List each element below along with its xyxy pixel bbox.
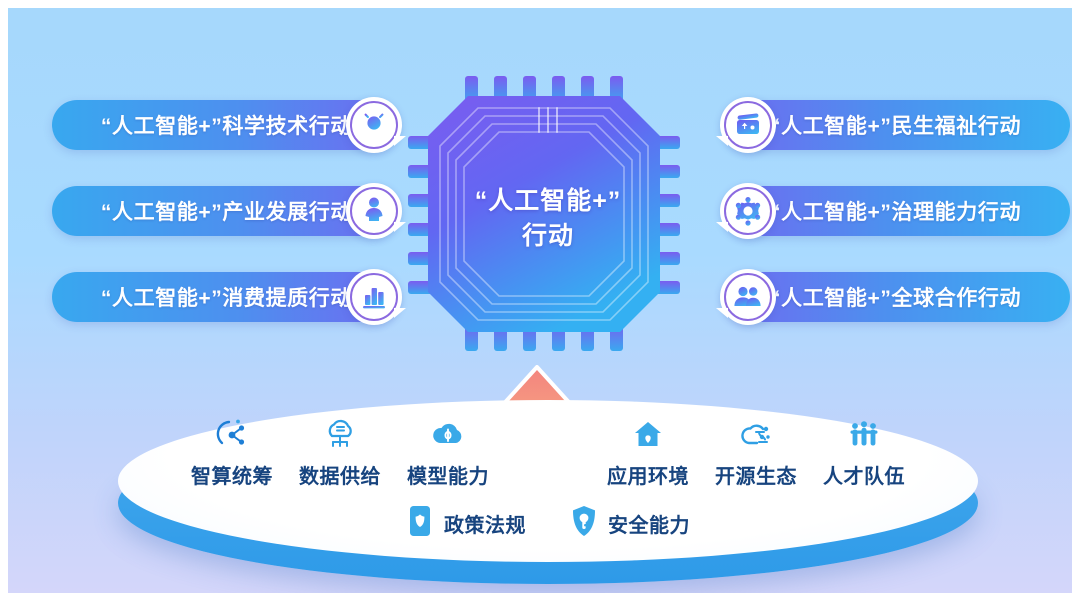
policy-shield-icon	[406, 504, 434, 543]
foundation-item-label: 数据供给	[299, 460, 381, 489]
foundation-item-data[interactable]: 数据供给	[286, 414, 394, 489]
foundation-item-model[interactable]: 模型能力	[394, 414, 502, 489]
action-pill-label: “人工智能+”科学技术行动	[101, 110, 352, 140]
industry-icon	[346, 183, 402, 239]
action-pill-label: “人工智能+”全球合作行动	[770, 282, 1021, 312]
chip-title: “人工智能+” 行动	[408, 184, 688, 253]
open-source-cloud-icon	[737, 414, 775, 454]
badge-tail	[716, 136, 728, 146]
foundation-item-label: 模型能力	[407, 460, 489, 489]
badge-tail	[394, 222, 406, 232]
action-pill-science[interactable]: “人工智能+”科学技术行动	[52, 100, 396, 150]
foundation-item-policy[interactable]: 政策法规	[406, 504, 526, 543]
foundation-item-label: 人才队伍	[823, 460, 905, 489]
action-pill-governance[interactable]: “人工智能+”治理能力行动	[726, 186, 1070, 236]
foundation-item-compute[interactable]: 智算统筹	[178, 414, 286, 489]
foundation-item-label: 应用环境	[607, 460, 689, 489]
foundation-item-label: 智算统筹	[191, 460, 273, 489]
foundation-disc: 智算统筹	[118, 400, 978, 584]
action-pill-global[interactable]: “人工智能+”全球合作行动	[726, 272, 1070, 322]
badge-tail	[716, 308, 728, 318]
infographic-canvas: “人工智能+” 行动 “人工智能+”科学技术行动	[8, 8, 1072, 593]
foundation-item-talent[interactable]: 人才队伍	[810, 414, 918, 489]
home-application-icon	[629, 414, 667, 454]
wallet-icon	[720, 97, 776, 153]
badge-tail	[394, 136, 406, 146]
data-cloud-icon	[321, 414, 359, 454]
model-brain-cloud-icon	[429, 414, 467, 454]
compute-network-icon	[213, 414, 251, 454]
foundation-item-label: 开源生态	[715, 460, 797, 489]
talent-people-icon	[845, 414, 883, 454]
governance-gear-icon	[720, 183, 776, 239]
foundation-row-secondary: 政策法规 安全能力	[118, 504, 978, 543]
lightbulb-icon	[346, 97, 402, 153]
foundation-item-security[interactable]: 安全能力	[570, 504, 690, 543]
action-pill-label: “人工智能+”消费提质行动	[101, 282, 352, 312]
badge-tail	[394, 308, 406, 318]
action-pill-consumption[interactable]: “人工智能+”消费提质行动	[52, 272, 396, 322]
foundation-row-primary: 智算统筹	[118, 414, 978, 489]
action-pill-label: “人工智能+”民生福祉行动	[770, 110, 1021, 140]
foundation-item-label: 政策法规	[444, 509, 526, 538]
foundation-item-opensource[interactable]: 开源生态	[702, 414, 810, 489]
action-pill-industry[interactable]: “人工智能+”产业发展行动	[52, 186, 396, 236]
security-shield-key-icon	[570, 504, 598, 543]
action-pill-livelihood[interactable]: “人工智能+”民生福祉行动	[726, 100, 1070, 150]
foundation-item-label: 安全能力	[608, 509, 690, 538]
action-pill-label: “人工智能+”产业发展行动	[101, 196, 352, 226]
chip-core: “人工智能+” 行动	[408, 76, 688, 351]
bar-chart-icon	[346, 269, 402, 325]
badge-tail	[716, 222, 728, 232]
action-pill-label: “人工智能+”治理能力行动	[770, 196, 1021, 226]
people-group-icon	[720, 269, 776, 325]
foundation-item-application[interactable]: 应用环境	[594, 414, 702, 489]
